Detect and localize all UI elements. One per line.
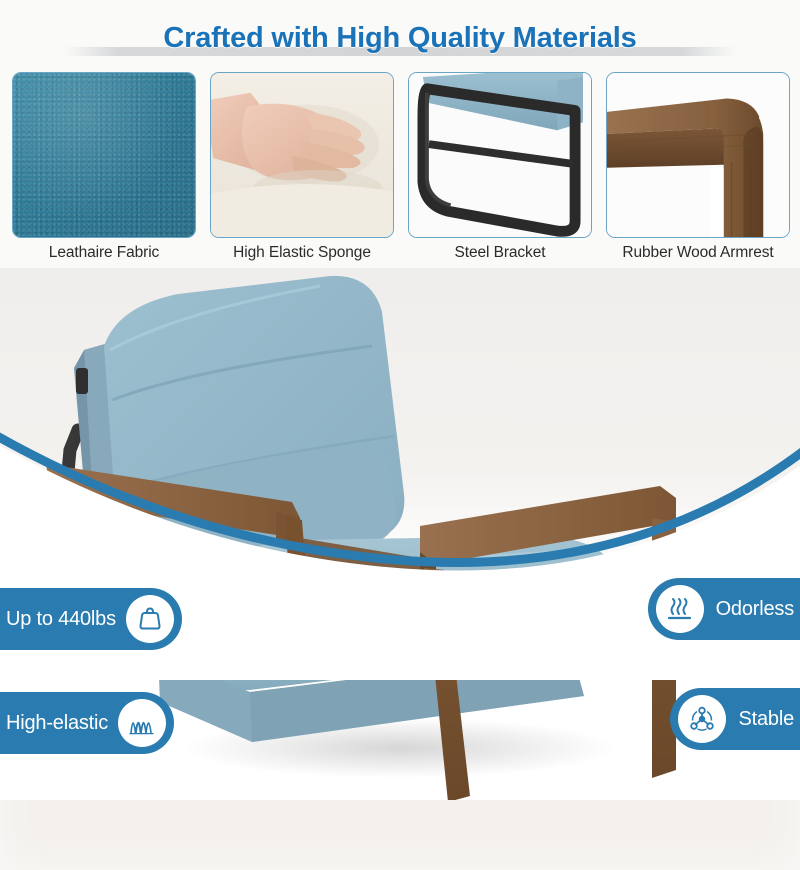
feature-badge-weight-capacity[interactable]: Up to 440lbs xyxy=(0,588,182,650)
page-title: Crafted with High Quality Materials xyxy=(0,22,800,55)
feature-badge-odorless[interactable]: Odorless xyxy=(648,578,800,640)
scent-waves-icon xyxy=(656,585,704,633)
foam-hand-press-image xyxy=(211,73,393,237)
page-title-block: Crafted with High Quality Materials xyxy=(0,22,800,68)
material-label-leathaire: Leathaire Fabric xyxy=(12,244,196,262)
material-card-sponge[interactable] xyxy=(210,72,394,238)
materials-gallery: Leathaire Fabric xyxy=(0,72,800,272)
leather-swatch-image xyxy=(13,73,195,237)
badge-label-stable: Stable xyxy=(738,708,794,731)
material-label-steel: Steel Bracket xyxy=(408,244,592,262)
weight-icon xyxy=(126,595,174,643)
material-card-wood[interactable] xyxy=(606,72,790,238)
badge-label-odorless: Odorless xyxy=(716,598,794,621)
spring-wave-icon xyxy=(118,699,166,747)
molecule-icon xyxy=(678,695,726,743)
badge-label-high-elastic: High-elastic xyxy=(6,712,108,735)
feature-badge-high-elastic[interactable]: High-elastic xyxy=(0,692,174,754)
material-label-sponge: High Elastic Sponge xyxy=(210,244,394,262)
material-card-leathaire[interactable] xyxy=(12,72,196,238)
steel-bracket-image xyxy=(409,73,591,237)
material-card-steel[interactable] xyxy=(408,72,592,238)
wood-armrest-image xyxy=(607,73,789,237)
feature-badge-stable[interactable]: Stable xyxy=(670,688,800,750)
material-label-wood: Rubber Wood Armrest xyxy=(606,244,790,262)
badge-label-weight-capacity: Up to 440lbs xyxy=(6,608,116,631)
